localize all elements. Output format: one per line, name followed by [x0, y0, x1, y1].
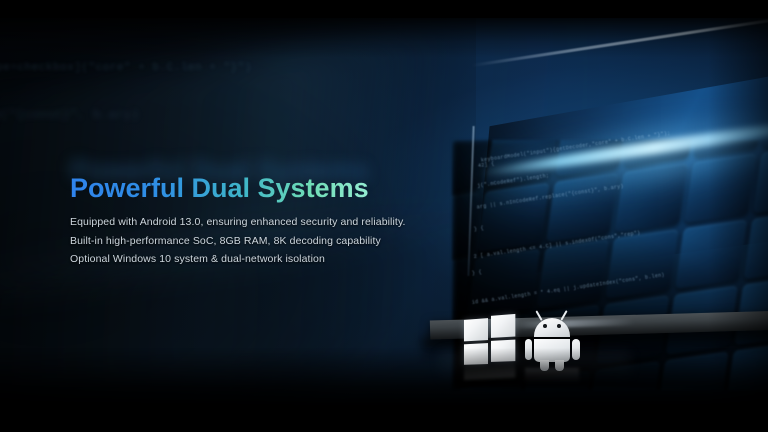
windows-pane [490, 314, 515, 338]
windows-pane [464, 318, 488, 341]
feature-line-2: Built-in high-performance SoC, 8GB RAM, … [70, 232, 406, 251]
letterbox-bar-top [0, 0, 768, 18]
feature-line-1: Equipped with Android 13.0, ensuring enh… [70, 213, 406, 232]
feature-description: Equipped with Android 13.0, ensuring enh… [70, 213, 406, 269]
android-antenna-right [560, 310, 568, 321]
keyboard-key [606, 229, 678, 299]
android-eye-left [543, 324, 547, 328]
feature-line-3: Optional Windows 10 system & dual-networ… [70, 250, 406, 269]
bottom-vignette [0, 348, 768, 408]
letterbox-bar-bottom [0, 408, 768, 432]
page-title: Powerful Dual Systems [70, 173, 369, 204]
android-head [534, 318, 570, 337]
top-vignette [0, 18, 768, 58]
android-eye-right [557, 324, 561, 328]
android-antenna-left [535, 310, 543, 321]
slide-canvas: type=checkbox]("core" + b.C.len + "}") l… [0, 0, 768, 432]
keyboard-key [477, 183, 549, 253]
